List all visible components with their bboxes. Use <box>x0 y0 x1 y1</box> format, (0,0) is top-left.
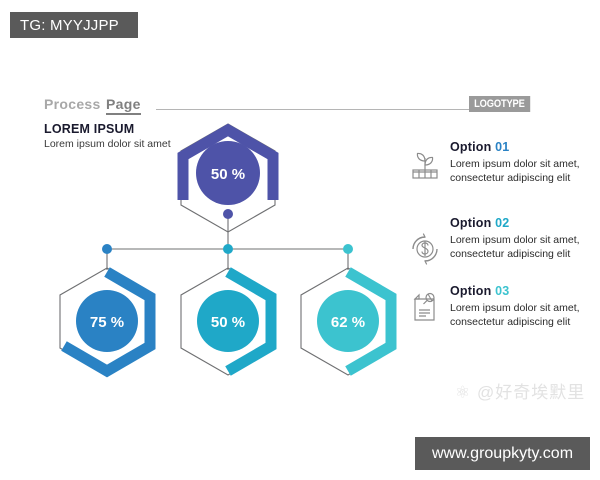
connector-lines <box>107 214 348 270</box>
option-label-2: Option <box>450 216 491 230</box>
hexagon-node-middle[interactable]: 50 % <box>181 268 275 375</box>
option-item-3[interactable]: Option 03 Lorem ipsum dolor sit amet, co… <box>450 284 600 329</box>
hexagon-value-left: 75 % <box>90 314 124 331</box>
site-watermark-text: www.groupkyty.com <box>432 445 573 463</box>
option-label-1: Option <box>450 140 491 154</box>
option-body-3: Lorem ipsum dolor sit amet, consectetur … <box>450 301 600 329</box>
option-item-1[interactable]: Option 01 Lorem ipsum dolor sit amet, co… <box>450 140 600 185</box>
option-label-3: Option <box>450 284 491 298</box>
money-cycle-icon <box>406 230 444 268</box>
option-title-3: Option 03 <box>450 284 600 298</box>
hexagon-value-right: 62 % <box>331 314 365 331</box>
hexagon-node-right[interactable]: 62 % <box>301 268 395 375</box>
site-watermark-badge: www.groupkyty.com <box>415 437 590 470</box>
option-number-3: 03 <box>495 284 509 298</box>
connector-dot-left <box>102 244 112 254</box>
option-title-2: Option 02 <box>450 216 600 230</box>
option-number-1: 01 <box>495 140 509 154</box>
pinned-note-icon <box>406 288 444 326</box>
seedling-icon <box>406 146 444 184</box>
option-item-2[interactable]: Option 02 Lorem ipsum dolor sit amet, co… <box>450 216 600 261</box>
hexagon-value-top: 50 % <box>211 166 245 183</box>
hexagon-node-left[interactable]: 75 % <box>60 268 154 375</box>
cjk-watermark: ⚛ @好奇埃默里 <box>455 378 585 403</box>
connector-dot-right <box>343 244 353 254</box>
connector-dot-top <box>223 209 233 219</box>
slide-canvas: TG: MYYJJPP Process Page LOGOTYPE LOREM … <box>0 0 600 480</box>
hexagon-value-middle: 50 % <box>211 314 245 331</box>
connector-dot-middle <box>223 244 233 254</box>
option-title-1: Option 01 <box>450 140 600 154</box>
option-body-1: Lorem ipsum dolor sit amet, consectetur … <box>450 157 600 185</box>
option-number-2: 02 <box>495 216 509 230</box>
option-body-2: Lorem ipsum dolor sit amet, consectetur … <box>450 233 600 261</box>
